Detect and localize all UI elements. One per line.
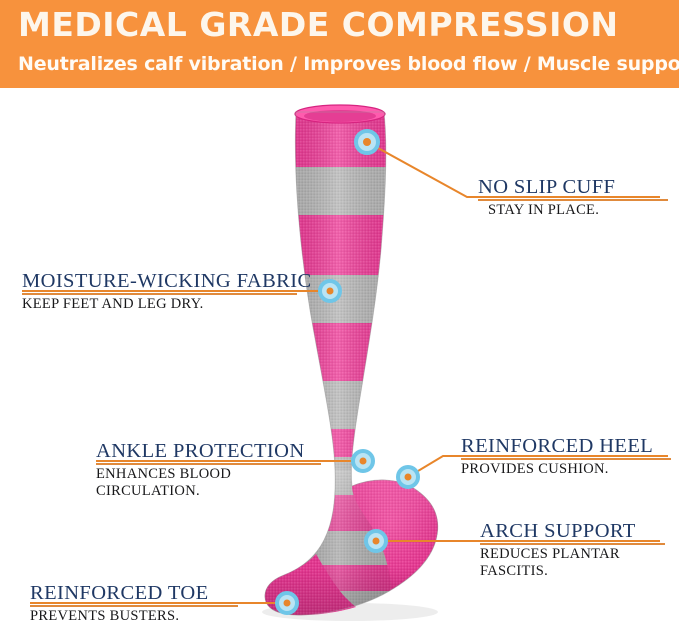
callout-title-no-slip-cuff: NO SLIP CUFF [478, 176, 668, 198]
callout-rule-ankle-protection [96, 463, 321, 465]
callout-no-slip-cuff: NO SLIP CUFF STAY IN PLACE. [478, 176, 668, 219]
callout-subtitle-moisture-wicking-fabric: KEEP FEET AND LEG DRY. [22, 296, 297, 313]
callout-rule-reinforced-heel [461, 458, 671, 460]
callout-title-arch-support: ARCH SUPPORT [480, 520, 665, 542]
callout-rule-moisture-wicking-fabric [22, 293, 297, 295]
callout-title-reinforced-toe: REINFORCED TOE [30, 582, 238, 604]
callout-moisture-wicking-fabric: MOISTURE-WICKING FABRIC KEEP FEET AND LE… [22, 270, 297, 313]
callout-subtitle-ankle-protection-line1: ENHANCES BLOOD [96, 466, 321, 483]
callout-ankle-protection: ANKLE PROTECTION ENHANCES BLOOD CIRCULAT… [96, 440, 321, 500]
callout-reinforced-toe: REINFORCED TOE PREVENTS BUSTERS. [30, 582, 238, 625]
callout-reinforced-heel: REINFORCED HEEL PROVIDES CUSHION. [461, 435, 671, 478]
callout-subtitle-arch-support-line1: REDUCES PLANTAR [480, 546, 665, 563]
callout-subtitle-reinforced-heel: PROVIDES CUSHION. [461, 461, 671, 478]
callout-title-ankle-protection: ANKLE PROTECTION [96, 440, 321, 462]
callout-arch-support: ARCH SUPPORT REDUCES PLANTAR FASCITIS. [480, 520, 665, 580]
callout-title-reinforced-heel: REINFORCED HEEL [461, 435, 671, 457]
callout-subtitle-ankle-protection-line2: CIRCULATION. [96, 483, 321, 500]
infographic-page: MEDICAL GRADE COMPRESSION Neutralizes ca… [0, 0, 679, 628]
callout-subtitle-no-slip-cuff: STAY IN PLACE. [488, 202, 668, 219]
sock-cuff [295, 105, 385, 123]
callout-rule-reinforced-toe [30, 605, 238, 607]
callout-subtitle-reinforced-toe: PREVENTS BUSTERS. [30, 608, 238, 625]
callout-rule-no-slip-cuff [478, 199, 668, 201]
callout-subtitle-arch-support-line2: FASCITIS. [480, 563, 665, 580]
callout-title-moisture-wicking-fabric: MOISTURE-WICKING FABRIC [22, 270, 297, 292]
callout-rule-arch-support [480, 543, 665, 545]
